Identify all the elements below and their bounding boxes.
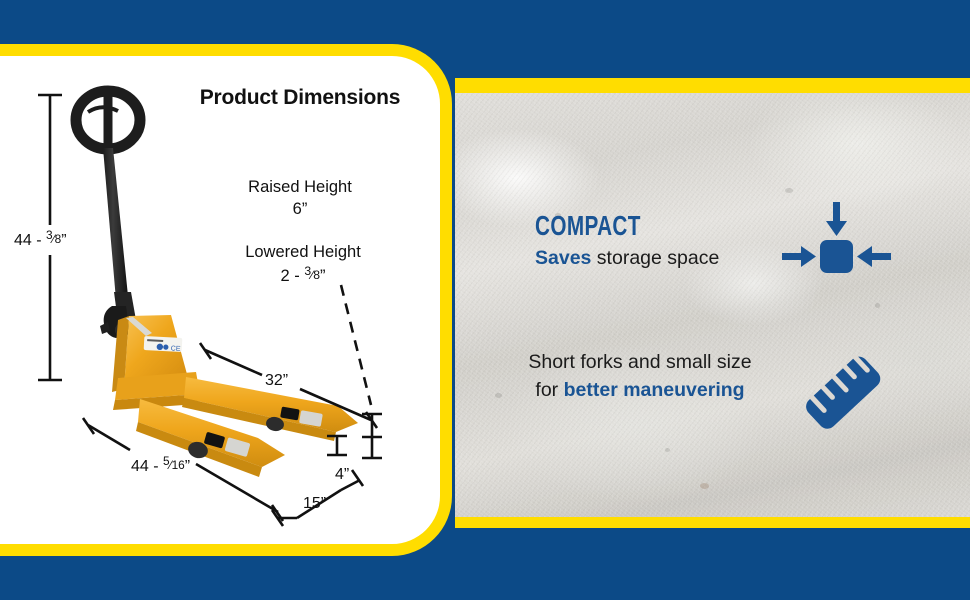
fraction-3-8: 3⁄8: [304, 263, 320, 283]
dimline-lowered-height-leader: [341, 285, 371, 405]
dimline-fork-length: [200, 343, 377, 428]
label-fork-height: 4”: [335, 466, 349, 484]
raised-height-value: 6”: [210, 198, 390, 220]
lowered-height-label: Lowered Height: [205, 241, 401, 263]
infographic-root: COMPACT Saves storage space Short forks …: [0, 0, 970, 600]
fraction-3-8: 3⁄8: [46, 228, 61, 246]
dimline-right-height: [362, 414, 382, 458]
page-title: Product Dimensions: [150, 86, 450, 110]
label-overall-height: 44 - 3⁄8”: [14, 228, 67, 250]
lowered-height-value: 2 - 3⁄8”: [205, 263, 401, 287]
label-fork-length: 32”: [265, 372, 288, 390]
label-overall-length: 44 - 5⁄16”: [131, 454, 190, 476]
fraction-5-16: 5⁄16: [163, 454, 185, 472]
dimension-lines: [0, 0, 970, 600]
dimline-fork-height: [327, 436, 347, 455]
label-lowered-height: Lowered Height 2 - 3⁄8”: [205, 241, 401, 288]
raised-height-label: Raised Height: [210, 176, 390, 198]
label-overall-width: 15”: [303, 495, 326, 513]
label-raised-height: Raised Height 6”: [210, 176, 390, 221]
